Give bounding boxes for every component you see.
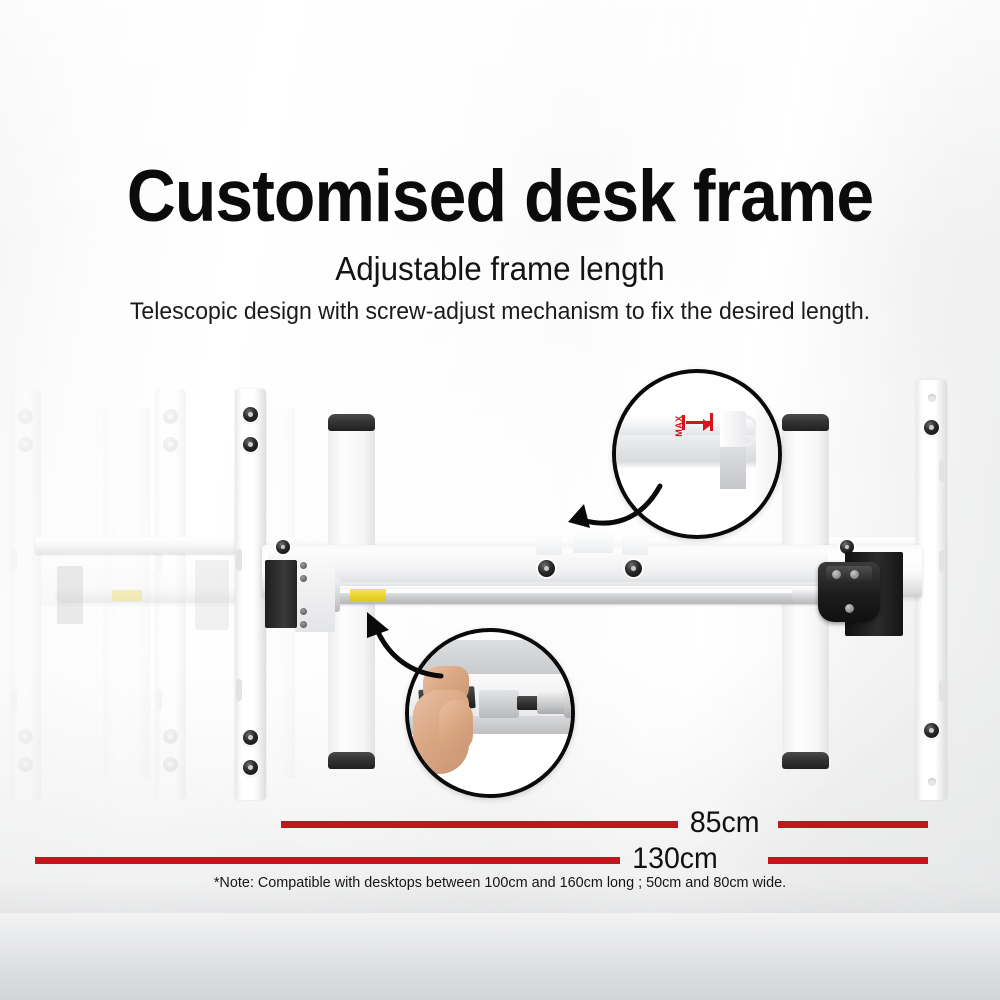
page-subtitle: Adjustable frame length [25,250,975,288]
adjust-rod-detail [479,690,519,718]
measure-label-130: 130cm [632,842,718,876]
leg-bolt [243,437,258,452]
beam-mount-tab [573,531,613,553]
leg-bolt [243,760,258,775]
measure-line-85-left [281,821,678,828]
callout-max-marker: MAX [612,369,782,539]
max-tick-left [682,415,685,430]
leg-bolt [924,420,939,435]
leg-slot [236,679,242,701]
motor-screw [850,570,859,579]
beam-bolt [538,560,555,577]
right-foot-pad-top [782,414,829,431]
leg-bolt [243,407,258,422]
compatibility-note: *Note: Compatible with desktops between … [20,874,980,891]
shaft-warning-label-left [350,589,386,601]
bracket-screw [300,562,307,569]
ghost-bracket [57,566,83,624]
page-title: Customised desk frame [35,160,965,233]
right-foot-pad-bottom [782,752,829,769]
beam-mount-tab [536,533,562,555]
motor-screw [845,604,854,613]
hand-finger [439,700,473,752]
leg-slot [939,550,945,572]
max-tick-right [710,413,713,431]
page-tagline: Telescopic design with screw-adjust mech… [20,298,980,326]
product-marketing-image: MAX Customised desk [0,0,1000,1000]
measure-label-85: 85cm [690,806,760,840]
callout-end-block [720,447,746,489]
rail-pivot-bolt [276,540,290,554]
measure-line-130-left [35,857,620,864]
ghost-bracket-2 [195,560,229,630]
ghost-yellow-label [112,590,142,601]
socket-head [517,696,539,710]
leg-slot [939,680,945,702]
left-foot-pad-bottom [328,752,375,769]
left-foot-pad-top [328,414,375,431]
measure-line-85-right [778,821,928,828]
callout-screw-adjust [405,628,575,798]
bracket-screw [300,575,307,582]
measure-line-130-right [768,857,928,864]
ghost-leg-position-1 [10,389,41,800]
shaft-highlight [336,589,824,593]
leg-slot [236,549,242,571]
max-arrow-icon [686,421,710,424]
beam-mount-tab [622,533,648,555]
leg-bolt [243,730,258,745]
bracket-screw [300,621,307,628]
motor-screw [832,570,841,579]
left-bracket-black [265,560,297,628]
beam-bolt [625,560,642,577]
callout-right-wall [756,373,780,535]
bracket-screw [300,608,307,615]
background-floor-shadow [0,880,1000,1000]
leg-screw-hole [928,778,936,786]
leg-slot [939,460,945,482]
leg-bolt [924,723,939,738]
leg-screw-hole [928,394,936,402]
